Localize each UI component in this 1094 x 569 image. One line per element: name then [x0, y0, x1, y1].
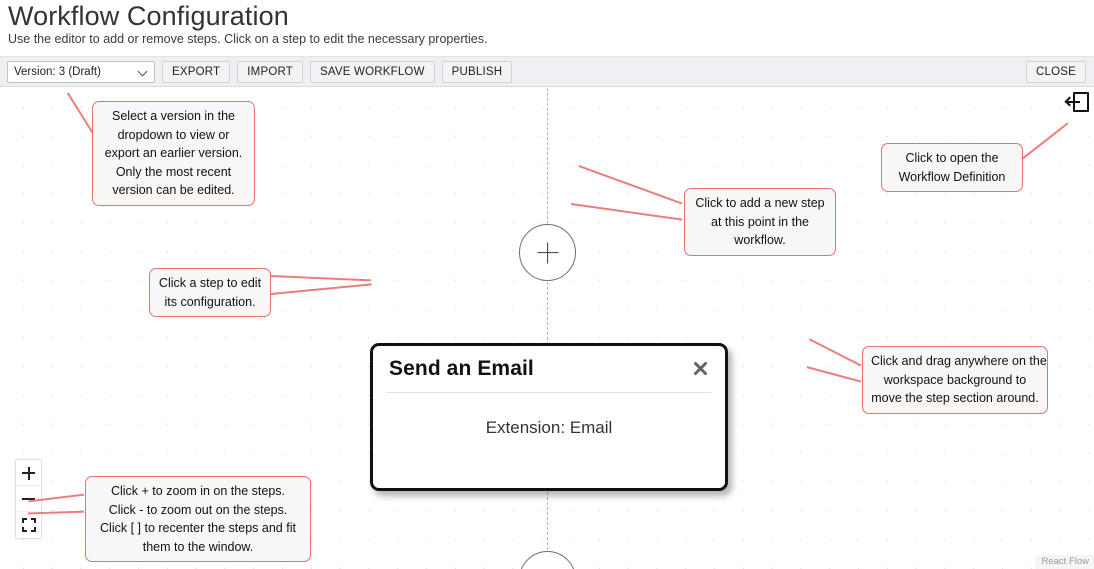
callout-line: Select a version in the: [101, 107, 246, 126]
callout-line: Click a step to edit: [158, 274, 262, 293]
publish-button[interactable]: PUBLISH: [442, 61, 513, 83]
callout-line: Only the most recent: [101, 163, 246, 182]
workflow-configuration-page: Workflow Configuration Use the editor to…: [0, 0, 1094, 569]
callout-line: move the step section around.: [871, 389, 1039, 408]
version-select[interactable]: Version: 3 (Draft): [7, 61, 155, 83]
import-button[interactable]: IMPORT: [237, 61, 303, 83]
callout-line: Click + to zoom in on the steps.: [94, 482, 302, 501]
callout-line: dropdown to view or: [101, 126, 246, 145]
fit-view-icon: [22, 518, 36, 532]
callout-line: workflow.: [693, 231, 827, 250]
add-step-button-bottom[interactable]: [519, 551, 576, 569]
step-card-title: Send an Email: [389, 357, 534, 381]
zoom-in-button[interactable]: [16, 460, 41, 486]
callout-line: Click to open the: [890, 149, 1014, 168]
callout-version: Select a version in the dropdown to view…: [92, 101, 255, 206]
callout-drag-workspace: Click and drag anywhere on the workspace…: [862, 346, 1048, 414]
callout-line: export an earlier version.: [101, 144, 246, 163]
step-card-body: Extension: Email: [373, 393, 725, 487]
callout-line: workspace background to: [871, 371, 1039, 390]
callout-line: Click [ ] to recenter the steps and fit: [94, 519, 302, 538]
step-node-send-an-email[interactable]: Send an Email Extension: Email: [370, 343, 728, 491]
callout-edit-step: Click a step to edit its configuration.: [149, 268, 271, 317]
fit-view-button[interactable]: [16, 512, 41, 538]
page-header: Workflow Configuration Use the editor to…: [0, 0, 1094, 56]
version-select-value: Version: 3 (Draft): [14, 66, 101, 78]
editor-toolbar: Version: 3 (Draft) EXPORT IMPORT SAVE WO…: [0, 56, 1094, 87]
arrow-into-box-icon[interactable]: [1065, 92, 1089, 114]
callout-line: at this point in the: [693, 213, 827, 232]
callout-line: Click - to zoom out on the steps.: [94, 501, 302, 520]
callout-zoom-controls: Click + to zoom in on the steps. Click -…: [85, 476, 311, 562]
callout-line: its configuration.: [158, 293, 262, 312]
close-x-icon[interactable]: [689, 357, 711, 379]
callout-line: version can be edited.: [101, 181, 246, 200]
save-workflow-button[interactable]: SAVE WORKFLOW: [310, 61, 435, 83]
step-card-header: Send an Email: [373, 346, 725, 392]
close-button[interactable]: CLOSE: [1026, 61, 1086, 83]
callout-line: them to the window.: [94, 538, 302, 557]
step-card-extension-label: Extension: Email: [486, 418, 613, 438]
chevron-down-icon: [139, 67, 148, 76]
export-button[interactable]: EXPORT: [162, 61, 230, 83]
callout-line: Click and drag anywhere on the: [871, 352, 1039, 371]
edge-connector-top: [547, 88, 548, 224]
page-subtitle: Use the editor to add or remove steps. C…: [8, 31, 487, 47]
callout-line: Click to add a new step: [693, 194, 827, 213]
callout-open-definition: Click to open the Workflow Definition: [881, 143, 1023, 192]
add-step-button-top[interactable]: [519, 224, 576, 281]
callout-line: Workflow Definition: [890, 168, 1014, 187]
callout-add-step: Click to add a new step at this point in…: [684, 188, 836, 256]
react-flow-attribution[interactable]: React Flow: [1035, 555, 1094, 569]
